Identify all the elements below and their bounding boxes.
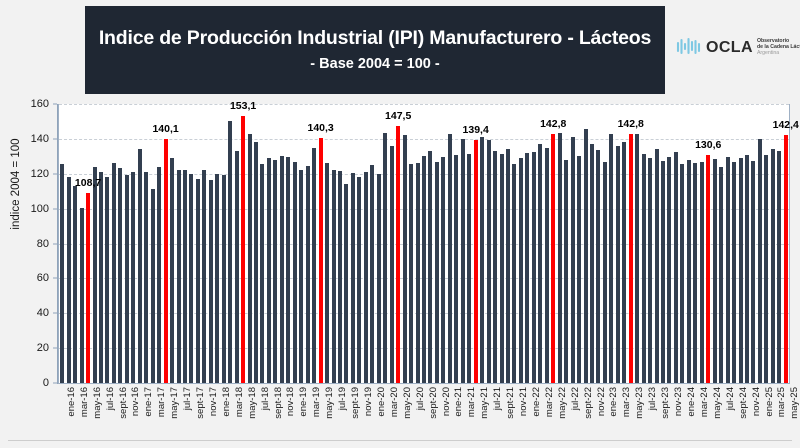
bar — [157, 167, 161, 383]
bar-value-label: 153,1 — [230, 100, 256, 112]
x-axis-line — [58, 383, 790, 384]
bar — [125, 175, 129, 383]
bar — [512, 164, 516, 383]
title-box: Indice de Producción Industrial (IPI) Ma… — [85, 6, 665, 94]
bar — [112, 163, 116, 383]
bar — [693, 163, 697, 383]
bar — [131, 172, 135, 383]
x-axis-tick-label: jul-20 — [415, 387, 426, 410]
bar — [519, 158, 523, 383]
bar-highlighted — [784, 135, 788, 383]
bar — [293, 162, 297, 383]
x-axis-tick-label: sept-24 — [738, 387, 749, 419]
bar — [422, 156, 426, 383]
x-axis-tick-label: nov-18 — [285, 387, 296, 416]
bar — [616, 146, 620, 383]
bar — [138, 149, 142, 383]
x-axis-tick-label: ene-21 — [453, 387, 464, 417]
bar-value-label: 108,7 — [75, 177, 101, 189]
bar-value-label: 139,4 — [463, 124, 489, 136]
x-axis-tick-label: jul-21 — [492, 387, 503, 410]
bar — [235, 151, 239, 383]
bar — [480, 137, 484, 383]
bar — [680, 164, 684, 383]
bar — [222, 175, 226, 383]
bar — [454, 155, 458, 383]
x-axis-tick-label: may-16 — [92, 387, 103, 419]
bar — [254, 142, 258, 383]
bar — [609, 134, 613, 383]
x-axis-tick-label: ene-23 — [608, 387, 619, 417]
x-axis-tick-label: ene-19 — [298, 387, 309, 417]
header-band: Indice de Producción Industrial (IPI) Ma… — [0, 0, 800, 94]
x-axis-tick-label: sept-18 — [273, 387, 284, 419]
x-axis-tick-label: nov-24 — [751, 387, 762, 416]
bar — [538, 144, 542, 383]
x-axis-tick-label: ene-22 — [531, 387, 542, 417]
y-axis-tick-label: 120 — [31, 168, 49, 180]
bar — [532, 152, 536, 383]
bar — [377, 174, 381, 383]
bar — [428, 151, 432, 383]
bar — [183, 170, 187, 383]
bar — [73, 186, 77, 383]
bar — [435, 162, 439, 383]
bar — [60, 164, 64, 383]
bar — [344, 184, 348, 383]
bar — [622, 142, 626, 383]
logo-tagline-3: Argentina — [757, 51, 800, 57]
bar — [80, 208, 84, 383]
x-axis-tick-label: mar-20 — [389, 387, 400, 417]
x-axis-tick-label: sept-22 — [583, 387, 594, 419]
bar — [487, 140, 491, 383]
y-axis-title: indice 2004 = 100 — [10, 64, 22, 304]
y-axis-tick-label: 100 — [31, 203, 49, 215]
bar — [441, 157, 445, 383]
bar — [732, 162, 736, 383]
x-axis-tick-label: sept-20 — [428, 387, 439, 419]
x-axis-tick-label: may-24 — [712, 387, 723, 419]
bar — [648, 158, 652, 383]
bar — [151, 189, 155, 383]
bar — [105, 177, 109, 383]
x-axis-tick-label: sept-16 — [118, 387, 129, 419]
y-axis-tick-label: 40 — [37, 307, 49, 319]
x-axis-tick-label: mar-17 — [156, 387, 167, 417]
x-axis-tick-label: sept-21 — [505, 387, 516, 419]
y-axis-tick-label: 140 — [31, 133, 49, 145]
bar — [751, 161, 755, 383]
ocla-logo: OCLA Observatorio de la Cadena Láctea Ar… — [676, 28, 796, 68]
footer-divider — [8, 440, 792, 441]
x-axis-tick-label: nov-21 — [518, 387, 529, 416]
bar — [674, 152, 678, 383]
bar-highlighted — [86, 193, 90, 383]
x-axis-tick-label: ene-16 — [66, 387, 77, 417]
bar — [558, 133, 562, 383]
x-axis-tick-label: jul-19 — [337, 387, 348, 410]
bar-value-label: 142,8 — [618, 118, 644, 130]
page-subtitle: - Base 2004 = 100 - — [310, 56, 439, 72]
bar — [370, 165, 374, 383]
x-axis-tick-label: nov-22 — [596, 387, 607, 416]
bar — [493, 151, 497, 383]
bar — [267, 158, 271, 383]
y-axis-tick-label: 80 — [37, 238, 49, 250]
logo-text: OCLA Observatorio de la Cadena Láctea Ar… — [706, 39, 800, 57]
x-axis-tick-label: jul-16 — [105, 387, 116, 410]
bar-highlighted — [164, 139, 168, 383]
bar — [177, 170, 181, 383]
bar — [590, 144, 594, 383]
bar — [312, 148, 316, 383]
bar — [525, 153, 529, 383]
x-axis-tick-label: may-21 — [479, 387, 490, 419]
x-axis-tick-label: jul-22 — [570, 387, 581, 410]
x-axis-tick-label: nov-23 — [673, 387, 684, 416]
bar — [461, 139, 465, 383]
x-axis-tick-label: sept-23 — [660, 387, 671, 419]
x-axis-tick-label: mar-18 — [234, 387, 245, 417]
page-title: Indice de Producción Industrial (IPI) Ma… — [99, 28, 651, 50]
bar — [726, 157, 730, 383]
x-axis-tick-label: mar-19 — [311, 387, 322, 417]
bar — [338, 171, 342, 383]
bar-value-label: 147,5 — [385, 110, 411, 122]
bar — [448, 134, 452, 383]
x-axis-tick-label: sept-17 — [195, 387, 206, 419]
bar-value-label: 142,8 — [540, 118, 566, 130]
bar — [739, 158, 743, 383]
bar-series: 108,7140,1153,1140,3147,5139,4142,8142,8… — [59, 104, 789, 383]
x-axis-tick-label: ene-24 — [686, 387, 697, 417]
y-axis-tick-label: 60 — [37, 272, 49, 284]
x-axis-tick-label: may-20 — [402, 387, 413, 419]
bar — [700, 162, 704, 383]
x-axis-tick-label: jul-24 — [725, 387, 736, 410]
bar — [332, 170, 336, 383]
x-axis-tick-label: mar-25 — [776, 387, 787, 417]
bar-highlighted — [319, 138, 323, 383]
bar — [745, 155, 749, 383]
chart-page: Indice de Producción Industrial (IPI) Ma… — [0, 0, 800, 448]
bar — [144, 172, 148, 383]
bar-highlighted — [706, 155, 710, 383]
x-axis-tick-label: nov-17 — [208, 387, 219, 416]
bar — [713, 159, 717, 383]
bar — [118, 168, 122, 383]
x-axis-tick-label: may-17 — [169, 387, 180, 419]
bar-value-label: 142,4 — [773, 119, 799, 131]
bar — [248, 134, 252, 383]
x-axis-tick-label: nov-20 — [441, 387, 452, 416]
x-axis-tick-label: jul-18 — [260, 387, 271, 410]
bar — [719, 167, 723, 383]
x-axis-tick-label: may-25 — [789, 387, 800, 419]
bar — [687, 160, 691, 383]
x-axis-tick-label: mar-22 — [544, 387, 555, 417]
bar — [299, 170, 303, 383]
bar — [642, 154, 646, 383]
bar-value-label: 130,6 — [695, 139, 721, 151]
bar — [667, 157, 671, 383]
bar — [777, 151, 781, 383]
bar — [189, 174, 193, 383]
bar — [416, 163, 420, 383]
bar — [577, 156, 581, 383]
bar — [357, 177, 361, 383]
bar — [409, 164, 413, 383]
bar-highlighted — [396, 126, 400, 383]
bar — [655, 149, 659, 383]
bar — [260, 164, 264, 383]
x-axis-tick-label: nov-16 — [130, 387, 141, 416]
bar — [571, 137, 575, 383]
bar — [93, 167, 97, 383]
bar — [635, 134, 639, 383]
bar — [306, 166, 310, 383]
y-axis: 020406080100120140160 — [0, 104, 57, 384]
bar — [228, 121, 232, 383]
bar — [170, 158, 174, 383]
y-axis-tick-label: 160 — [31, 98, 49, 110]
bar — [273, 160, 277, 383]
bar — [67, 177, 71, 383]
x-axis-tick-label: may-23 — [634, 387, 645, 419]
bar-value-label: 140,3 — [307, 122, 333, 134]
bar — [603, 162, 607, 383]
x-axis-tick-label: ene-25 — [764, 387, 775, 417]
x-axis-tick-label: mar-16 — [79, 387, 90, 417]
bar — [99, 172, 103, 383]
bar — [584, 129, 588, 383]
bar-value-label: 140,1 — [152, 123, 178, 135]
x-axis-tick-label: mar-24 — [699, 387, 710, 417]
bar — [500, 154, 504, 383]
waveform-icon — [676, 37, 702, 60]
bar — [506, 149, 510, 383]
x-axis-tick-label: ene-18 — [221, 387, 232, 417]
bar — [215, 174, 219, 383]
bar-highlighted — [474, 140, 478, 383]
x-axis-tick-label: jul-23 — [647, 387, 658, 410]
bar — [209, 180, 213, 383]
bar — [280, 156, 284, 383]
x-axis-tick-label: may-19 — [324, 387, 335, 419]
x-axis-tick-label: may-22 — [557, 387, 568, 419]
y-axis-tick-label: 20 — [37, 342, 49, 354]
bar — [196, 179, 200, 383]
bar — [403, 135, 407, 383]
bar — [286, 157, 290, 383]
x-axis-tick-label: sept-19 — [350, 387, 361, 419]
x-axis-tick-label: ene-17 — [143, 387, 154, 417]
bar — [771, 149, 775, 383]
bar — [383, 133, 387, 383]
bar — [325, 163, 329, 383]
bar — [364, 172, 368, 383]
y-axis-tick-label: 0 — [43, 377, 49, 389]
x-axis-labels: ene-16mar-16may-16jul-16sept-16nov-16ene… — [59, 387, 789, 445]
bar — [596, 150, 600, 383]
bar-highlighted — [629, 134, 633, 383]
x-axis-tick-label: nov-19 — [363, 387, 374, 416]
bar — [351, 173, 355, 383]
bar — [661, 161, 665, 383]
bar-highlighted — [241, 116, 245, 383]
x-axis-tick-label: mar-21 — [466, 387, 477, 417]
bar — [758, 139, 762, 383]
bar-highlighted — [551, 134, 555, 383]
x-axis-tick-label: jul-17 — [182, 387, 193, 410]
x-axis-tick-label: may-18 — [247, 387, 258, 419]
bar — [545, 148, 549, 383]
logo-name: OCLA — [706, 39, 753, 57]
x-axis-tick-label: mar-23 — [621, 387, 632, 417]
bar — [564, 160, 568, 383]
logo-tagline: Observatorio de la Cadena Láctea Argenti… — [757, 39, 800, 56]
bar — [467, 154, 471, 383]
bar — [390, 146, 394, 383]
bar — [202, 170, 206, 383]
x-axis-tick-label: ene-20 — [376, 387, 387, 417]
bar — [764, 155, 768, 383]
